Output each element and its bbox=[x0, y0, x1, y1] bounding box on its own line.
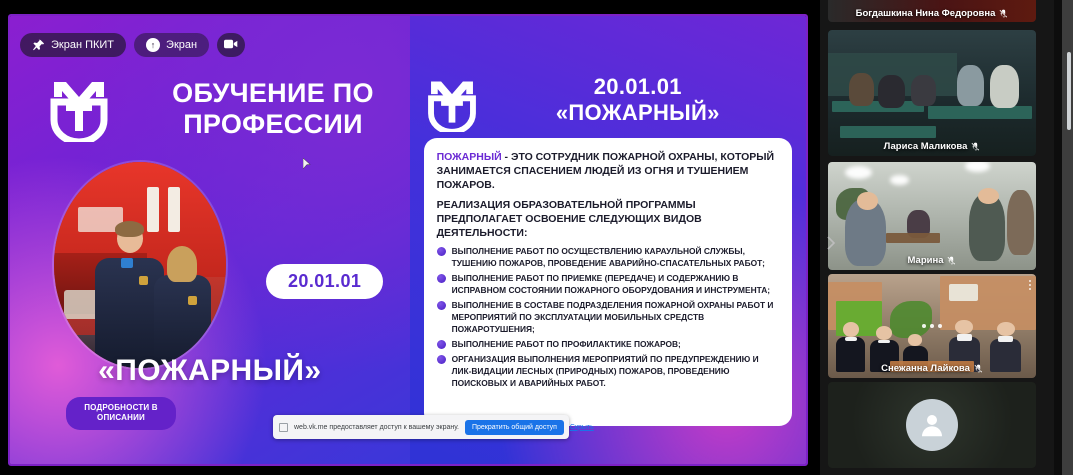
kebab-menu-icon[interactable] bbox=[1029, 280, 1031, 290]
slide-left-panel: ОБУЧЕНИЕ ПО ПРОФЕССИИ bbox=[10, 16, 410, 464]
mouse-cursor-icon bbox=[303, 157, 311, 169]
participant-name-row: Снежанна Лайкова bbox=[828, 363, 1036, 374]
participant-name: Лариса Маликова bbox=[884, 141, 968, 152]
mt-logo-icon bbox=[48, 78, 110, 142]
slide-right-panel: 20.01.01 «ПОЖАРНЫЙ» Пожарный - ЭТО СОТРУ… bbox=[410, 16, 806, 464]
participant-tile[interactable] bbox=[828, 382, 1036, 468]
list-item: ВЫПОЛНЕНИЕ РАБОТ ПО ОСУЩЕСТВЛЕНИЮ КАРАУЛ… bbox=[437, 246, 779, 270]
list-item: ВЫПОЛНЕНИЕ В СОСТАВЕ ПОДРАЗДЕЛЕНИЯ ПОЖАР… bbox=[437, 300, 779, 336]
participant-name-row: Лариса Маликова bbox=[828, 141, 1036, 152]
mic-muted-icon bbox=[974, 364, 983, 373]
list-item: ВЫПОЛНЕНИЕ РАБОТ ПО ПРОФИЛАКТИКЕ ПОЖАРОВ… bbox=[437, 339, 779, 351]
camera-chip[interactable] bbox=[217, 33, 245, 57]
screen-chip-label: Экран bbox=[166, 39, 197, 51]
person-avatar-icon bbox=[906, 399, 958, 451]
share-bar-text: web.vk.me предоставляет доступ к вашему … bbox=[294, 424, 459, 431]
definition-paragraph: Пожарный - ЭТО СОТРУДНИК ПОЖАРНОЙ ОХРАНЫ… bbox=[437, 150, 779, 192]
scrollbar-thumb[interactable] bbox=[1067, 52, 1071, 130]
slide-left-title: «ПОЖАРНЫЙ» bbox=[10, 354, 410, 388]
hide-bar-link[interactable]: Скрыть bbox=[570, 424, 594, 431]
participant-name-row: Марина bbox=[828, 255, 1036, 266]
participant-name-row: Богдашкина Нина Федоровна bbox=[828, 8, 1036, 19]
share-screen-icon: ↑ bbox=[146, 38, 160, 52]
participant-name: Богдашкина Нина Федоровна bbox=[856, 8, 996, 19]
screen-share-icon bbox=[279, 423, 288, 432]
pinned-screen-label: Экран ПКИТ bbox=[51, 39, 114, 51]
screen-overlay-chips: Экран ПКИТ ↑ Экран bbox=[20, 33, 245, 57]
definition-keyword: Пожарный bbox=[437, 151, 502, 163]
program-title: «ПОЖАРНЫЙ» bbox=[480, 100, 796, 126]
slide-right-heading: 20.01.01 «ПОЖАРНЫЙ» bbox=[480, 74, 796, 127]
pin-icon bbox=[32, 39, 45, 52]
participant-name: Марина bbox=[908, 255, 944, 266]
firefighter-cadets-photo bbox=[54, 162, 226, 368]
stop-sharing-button[interactable]: Прекратить общий доступ bbox=[465, 420, 564, 435]
collapse-rail-button[interactable] bbox=[822, 230, 840, 256]
participant-video bbox=[828, 382, 1036, 468]
list-item: ОРГАНИЗАЦИЯ ВЫПОЛНЕНИЯ МЕРОПРИЯТИЙ ПО ПР… bbox=[437, 354, 779, 390]
list-item: ВЫПОЛНЕНИЕ РАБОТ ПО ПРИЕМКЕ (ПЕРЕДАЧЕ) И… bbox=[437, 273, 779, 297]
shared-screen-frame[interactable]: ОБУЧЕНИЕ ПО ПРОФЕССИИ bbox=[8, 14, 808, 466]
cadet-female bbox=[154, 249, 211, 368]
mic-muted-icon bbox=[947, 256, 956, 265]
screen-chip[interactable]: ↑ Экран bbox=[134, 33, 209, 57]
participant-tile[interactable]: Лариса Маликова bbox=[828, 30, 1036, 156]
program-description-card: Пожарный - ЭТО СОТРУДНИК ПОЖАРНОЙ ОХРАНЫ… bbox=[424, 138, 792, 426]
shared-screen-stage: ОБУЧЕНИЕ ПО ПРОФЕССИИ bbox=[0, 0, 820, 475]
pinned-screen-chip[interactable]: Экран ПКИТ bbox=[20, 33, 126, 57]
mic-muted-icon bbox=[971, 142, 980, 151]
program-code-pill: 20.01.01 bbox=[266, 264, 383, 299]
participant-name: Снежанна Лайкова bbox=[881, 363, 970, 374]
participants-rail: Богдашкина Нина Федоровна Лариса Малик bbox=[820, 0, 1073, 475]
participant-tile[interactable]: Снежанна Лайкова bbox=[828, 274, 1036, 378]
chevron-right-icon bbox=[826, 236, 836, 250]
program-code: 20.01.01 bbox=[480, 74, 796, 100]
participant-tile[interactable]: Марина bbox=[828, 162, 1036, 270]
scrollbar-track[interactable] bbox=[1062, 0, 1073, 475]
participant-tile[interactable]: Богдашкина Нина Федоровна bbox=[828, 0, 1036, 22]
video-conference-window: ОБУЧЕНИЕ ПО ПРОФЕССИИ bbox=[0, 0, 1073, 475]
activities-lead: РЕАЛИЗАЦИЯ ОБРАЗОВАТЕЛЬНОЙ ПРОГРАММЫ ПРЕ… bbox=[437, 198, 779, 240]
screen-share-notification-bar: web.vk.me предоставляет доступ к вашему … bbox=[273, 415, 569, 439]
slide-left-heading: ОБУЧЕНИЕ ПО ПРОФЕССИИ bbox=[158, 78, 388, 140]
camera-icon bbox=[224, 36, 238, 54]
mt-logo-icon bbox=[426, 78, 478, 132]
mic-muted-icon bbox=[999, 9, 1008, 18]
presentation-slide: ОБУЧЕНИЕ ПО ПРОФЕССИИ bbox=[10, 16, 806, 464]
activities-list: ВЫПОЛНЕНИЕ РАБОТ ПО ОСУЩЕСТВЛЕНИЮ КАРАУЛ… bbox=[437, 246, 779, 389]
rail-edge bbox=[1054, 0, 1062, 475]
pagination-dots bbox=[922, 324, 942, 328]
details-badge: ПОДРОБНОСТИ В ОПИСАНИИ bbox=[66, 397, 176, 430]
participant-video bbox=[828, 162, 1036, 270]
participant-video bbox=[828, 30, 1036, 156]
